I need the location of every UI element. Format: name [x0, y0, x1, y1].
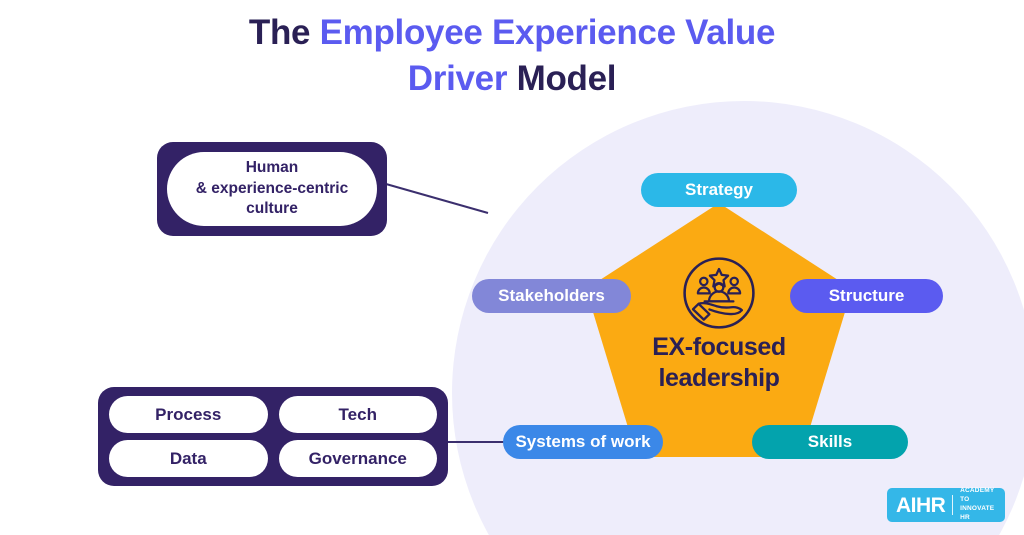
aihr-logo-divider — [952, 495, 953, 515]
culture-card-line-1: Human — [246, 159, 299, 176]
driver-pill-stakeholders-label: Stakeholders — [498, 286, 605, 306]
center-label-line-1: EX-focused — [652, 333, 786, 361]
center-label-line-2: leadership — [658, 364, 779, 392]
title-text-accent-2: Driver — [408, 59, 507, 98]
connector-line-systems — [444, 438, 512, 446]
culture-card[interactable]: Human & experience-centric culture — [157, 142, 387, 236]
aihr-logo[interactable]: AIHR ACADEMY TO INNOVATE HR — [887, 488, 1005, 522]
title-line-2: Driver Model — [408, 59, 616, 98]
hand-holding-people-star-icon — [679, 253, 759, 333]
driver-pill-structure[interactable]: Structure — [790, 279, 943, 313]
title-text-accent-1: Employee Experience Value — [320, 13, 776, 52]
driver-pill-systems-of-work[interactable]: Systems of work — [503, 425, 663, 459]
diagram-canvas: The Employee Experience Value Driver Mod… — [0, 0, 1024, 535]
enabler-pill-governance-label: Governance — [309, 449, 407, 469]
enablers-card[interactable]: Process Tech Data Governance — [98, 387, 448, 486]
culture-card-line-2: & experience-centric — [196, 180, 349, 197]
enabler-pill-process[interactable]: Process — [109, 396, 268, 433]
title-line-1: The Employee Experience Value — [249, 13, 775, 52]
enabler-pill-data[interactable]: Data — [109, 440, 268, 477]
aihr-logo-tagline-line-2: INNOVATE HR — [960, 505, 994, 521]
enablers-grid: Process Tech Data Governance — [109, 396, 437, 477]
enabler-pill-governance[interactable]: Governance — [279, 440, 438, 477]
driver-pill-structure-label: Structure — [829, 286, 905, 306]
center-label: EX-focused leadership — [609, 332, 829, 394]
aihr-logo-mark: AIHR — [896, 495, 945, 516]
driver-pill-strategy-label: Strategy — [685, 180, 753, 200]
aihr-logo-tagline: ACADEMY TO INNOVATE HR — [960, 487, 996, 522]
enabler-pill-tech-label: Tech — [339, 405, 377, 425]
driver-pill-skills-label: Skills — [808, 432, 852, 452]
title-text-model: Model — [507, 59, 616, 98]
culture-card-text: Human & experience-centric culture — [196, 158, 349, 219]
driver-pill-stakeholders[interactable]: Stakeholders — [472, 279, 631, 313]
aihr-logo-tagline-line-1: ACADEMY TO — [960, 487, 994, 503]
page-title: The Employee Experience Value Driver Mod… — [0, 10, 1024, 102]
enabler-pill-tech[interactable]: Tech — [279, 396, 438, 433]
culture-card-pill: Human & experience-centric culture — [167, 152, 377, 226]
enabler-pill-data-label: Data — [170, 449, 207, 469]
enabler-pill-process-label: Process — [155, 405, 221, 425]
driver-pill-systems-of-work-label: Systems of work — [515, 432, 650, 452]
title-text-the: The — [249, 13, 320, 52]
culture-card-line-3: culture — [246, 200, 298, 217]
connector-line-culture — [386, 184, 490, 216]
driver-pill-skills[interactable]: Skills — [752, 425, 908, 459]
driver-pill-strategy[interactable]: Strategy — [641, 173, 797, 207]
